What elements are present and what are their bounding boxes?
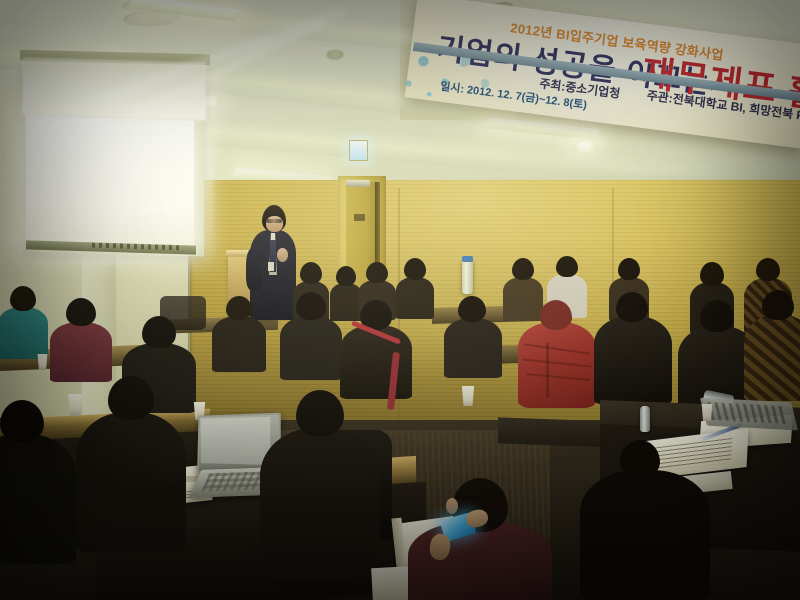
presenter-hand: [277, 248, 288, 262]
photo-scene: 2012년 BI입주기업 보육역량 강화사업 기업의 성공을 이끄는 재무제표 …: [0, 0, 800, 600]
wall-emergency-sign-icon: [349, 140, 368, 161]
laptop-display: [201, 417, 270, 465]
bottle-cap: [462, 256, 473, 262]
presenter-arm: [246, 248, 262, 290]
water-bottle: [462, 260, 473, 294]
sprinkler-icon: [327, 50, 343, 58]
ear: [446, 498, 458, 514]
water-bottle: [640, 406, 650, 432]
projection-screen-surface: [26, 115, 194, 248]
presenter-badge: [268, 262, 274, 271]
door-closer-icon: [346, 180, 370, 187]
door-plate: [354, 214, 365, 221]
glasses-icon: [266, 219, 282, 223]
